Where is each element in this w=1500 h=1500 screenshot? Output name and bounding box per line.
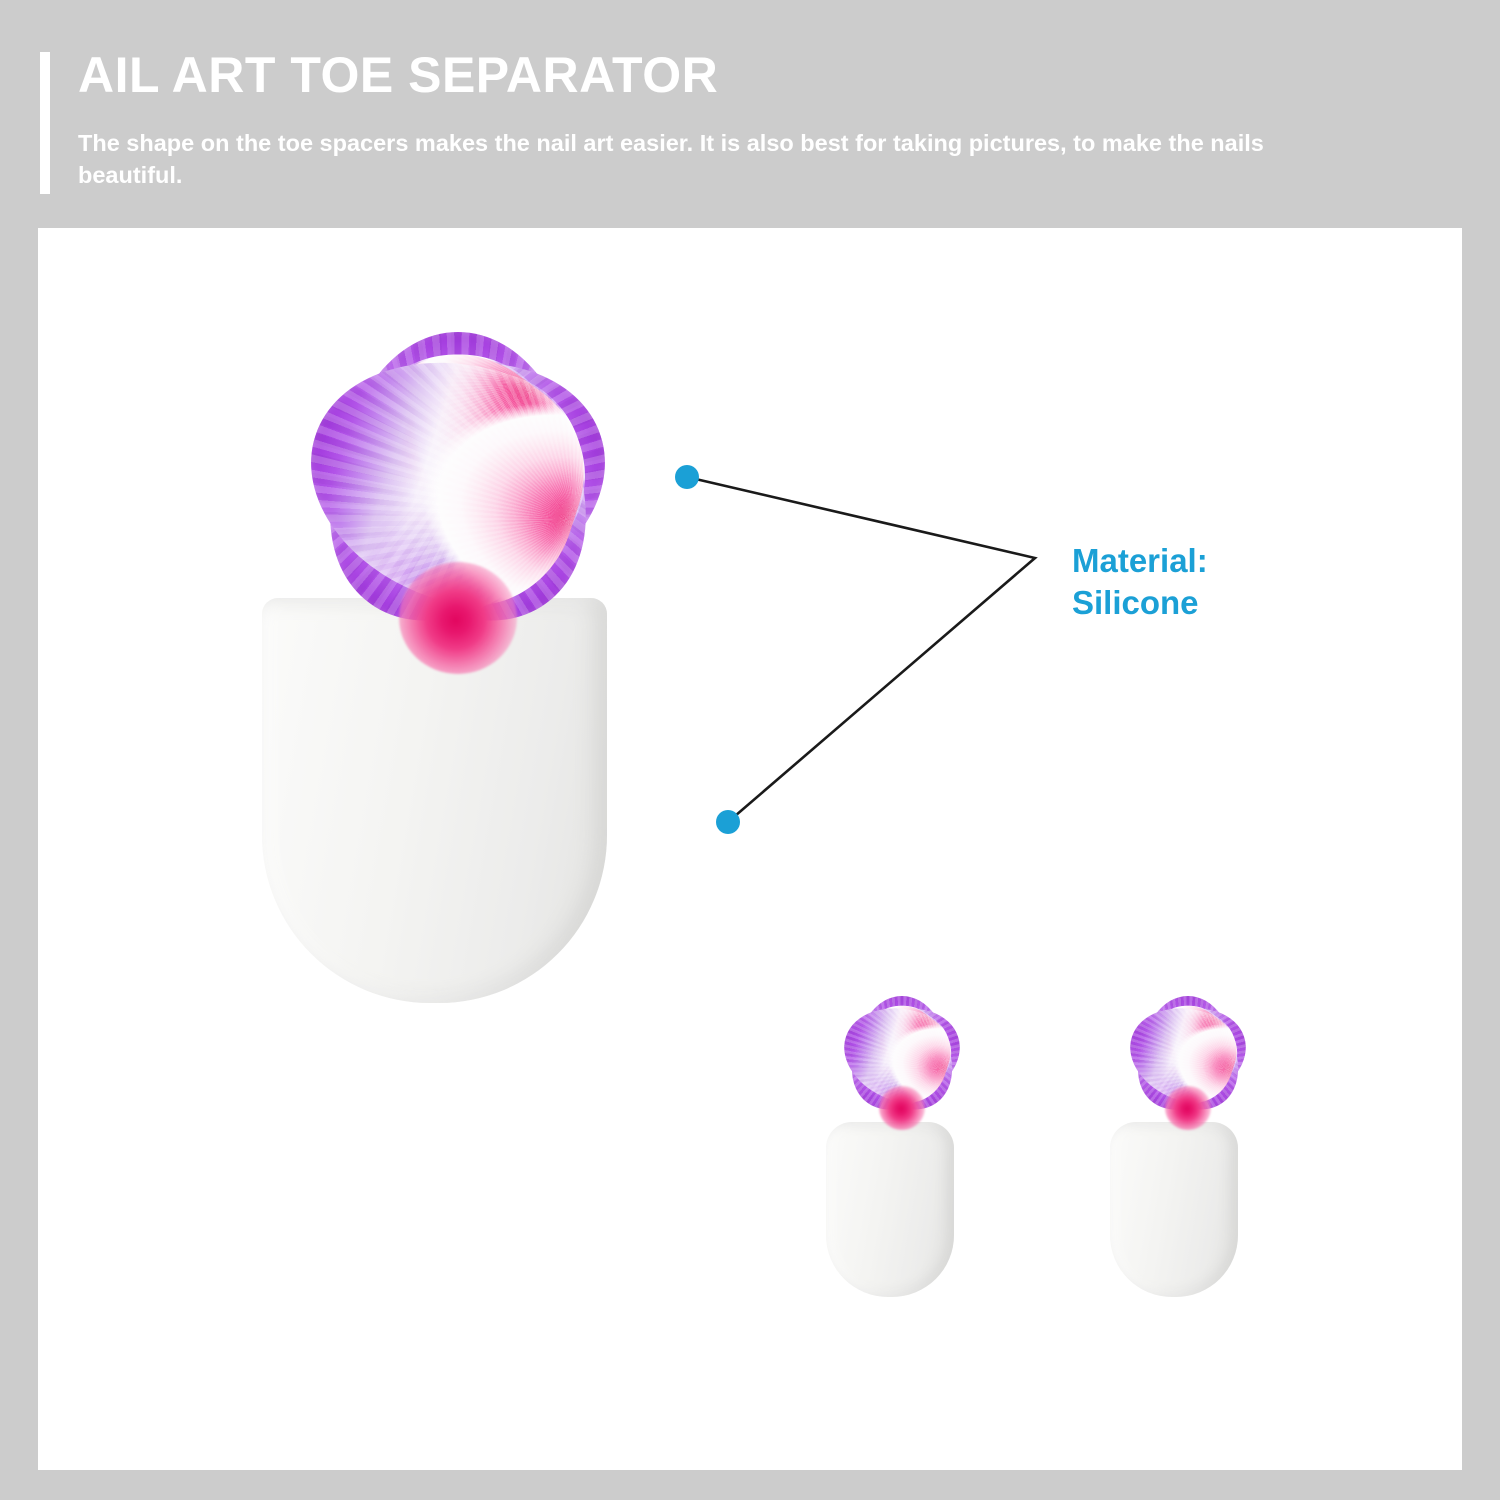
header-banner: AIL ART TOE SEPARATOR The shape on the t… — [0, 0, 1500, 228]
flower-small-1 — [802, 1012, 1002, 1204]
product-infographic: AIL ART TOE SEPARATOR The shape on the t… — [0, 0, 1500, 1500]
callout-label: Material: Silicone — [1072, 540, 1208, 624]
title-accent-bar — [40, 52, 50, 194]
flower-center — [399, 562, 517, 674]
page-title: AIL ART TOE SEPARATOR — [78, 44, 718, 106]
callout-label-line-1: Material: — [1072, 540, 1208, 582]
flower-center — [879, 1086, 925, 1130]
flower-small-2 — [1088, 1012, 1288, 1204]
flower-center — [1165, 1086, 1211, 1130]
flower-large — [198, 368, 718, 868]
callout-label-line-2: Silicone — [1072, 582, 1208, 624]
page-subtitle: The shape on the toe spacers makes the n… — [78, 127, 1278, 191]
